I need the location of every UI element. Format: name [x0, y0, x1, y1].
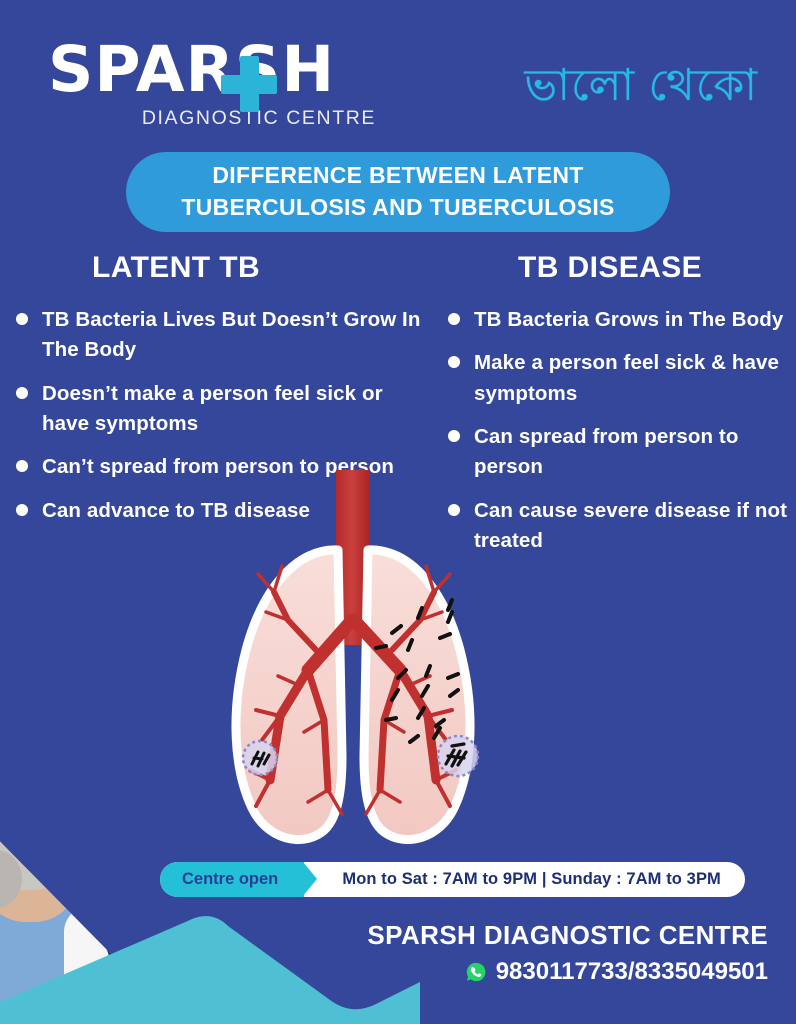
bullet-dot-icon: [448, 356, 460, 368]
medical-cross-icon: [221, 56, 277, 112]
list-item: TB Bacteria Lives But Doesn’t Grow In Th…: [16, 305, 426, 366]
bullet-dot-icon: [16, 460, 28, 472]
list-item: TB Bacteria Grows in The Body: [448, 305, 788, 335]
title-line-1: DIFFERENCE BETWEEN LATENT: [212, 160, 583, 192]
column-heading-latent-tb: LATENT TB: [92, 251, 260, 285]
tagline-bengali: ভালো থেকো: [524, 52, 758, 125]
centre-open-label: Centre open: [182, 870, 278, 889]
title-line-2: TUBERCULOSIS AND TUBERCULOSIS: [181, 192, 614, 224]
footer-phone-row[interactable]: 9830117733/8335049501: [0, 958, 768, 986]
column-heading-tb-disease: TB DISEASE: [518, 251, 702, 285]
bullet-dot-icon: [16, 504, 28, 516]
logo-wordmark: SPARSH: [48, 38, 378, 101]
whatsapp-icon: [465, 961, 487, 983]
list-item-label: TB Bacteria Grows in The Body: [474, 305, 783, 335]
logo-wordmark-text: SPARSH: [48, 33, 335, 106]
list-item-label: TB Bacteria Lives But Doesn’t Grow In Th…: [42, 305, 426, 366]
lungs-illustration: [196, 470, 556, 860]
bullet-dot-icon: [16, 387, 28, 399]
centre-open-chip: Centre open: [160, 862, 304, 897]
footer-phone-number: 9830117733/8335049501: [496, 958, 768, 986]
tb-lesion-right: [438, 736, 478, 776]
list-item: Doesn’t make a person feel sick or have …: [16, 379, 426, 440]
centre-hours-text: Mon to Sat : 7AM to 9PM | Sunday : 7AM t…: [304, 870, 745, 889]
tb-lesion-left: [243, 741, 277, 775]
bullet-dot-icon: [448, 430, 460, 442]
poster-canvas: SPARSH DIAGNOSTIC CENTRE ভালো থেকো DIFFE…: [0, 0, 796, 1024]
title-banner: DIFFERENCE BETWEEN LATENT TUBERCULOSIS A…: [126, 152, 670, 232]
centre-hours-bar: Centre open Mon to Sat : 7AM to 9PM | Su…: [160, 862, 745, 897]
list-item-label: Make a person feel sick & have symptoms: [474, 348, 788, 409]
bullet-dot-icon: [448, 313, 460, 325]
footer-centre-name: SPARSH DIAGNOSTIC CENTRE: [0, 920, 768, 951]
brand-logo: SPARSH DIAGNOSTIC CENTRE: [48, 38, 378, 130]
logo-subtitle: DIAGNOSTIC CENTRE: [48, 107, 378, 130]
list-item: Make a person feel sick & have symptoms: [448, 348, 788, 409]
list-item-label: Doesn’t make a person feel sick or have …: [42, 379, 426, 440]
bullet-dot-icon: [16, 313, 28, 325]
